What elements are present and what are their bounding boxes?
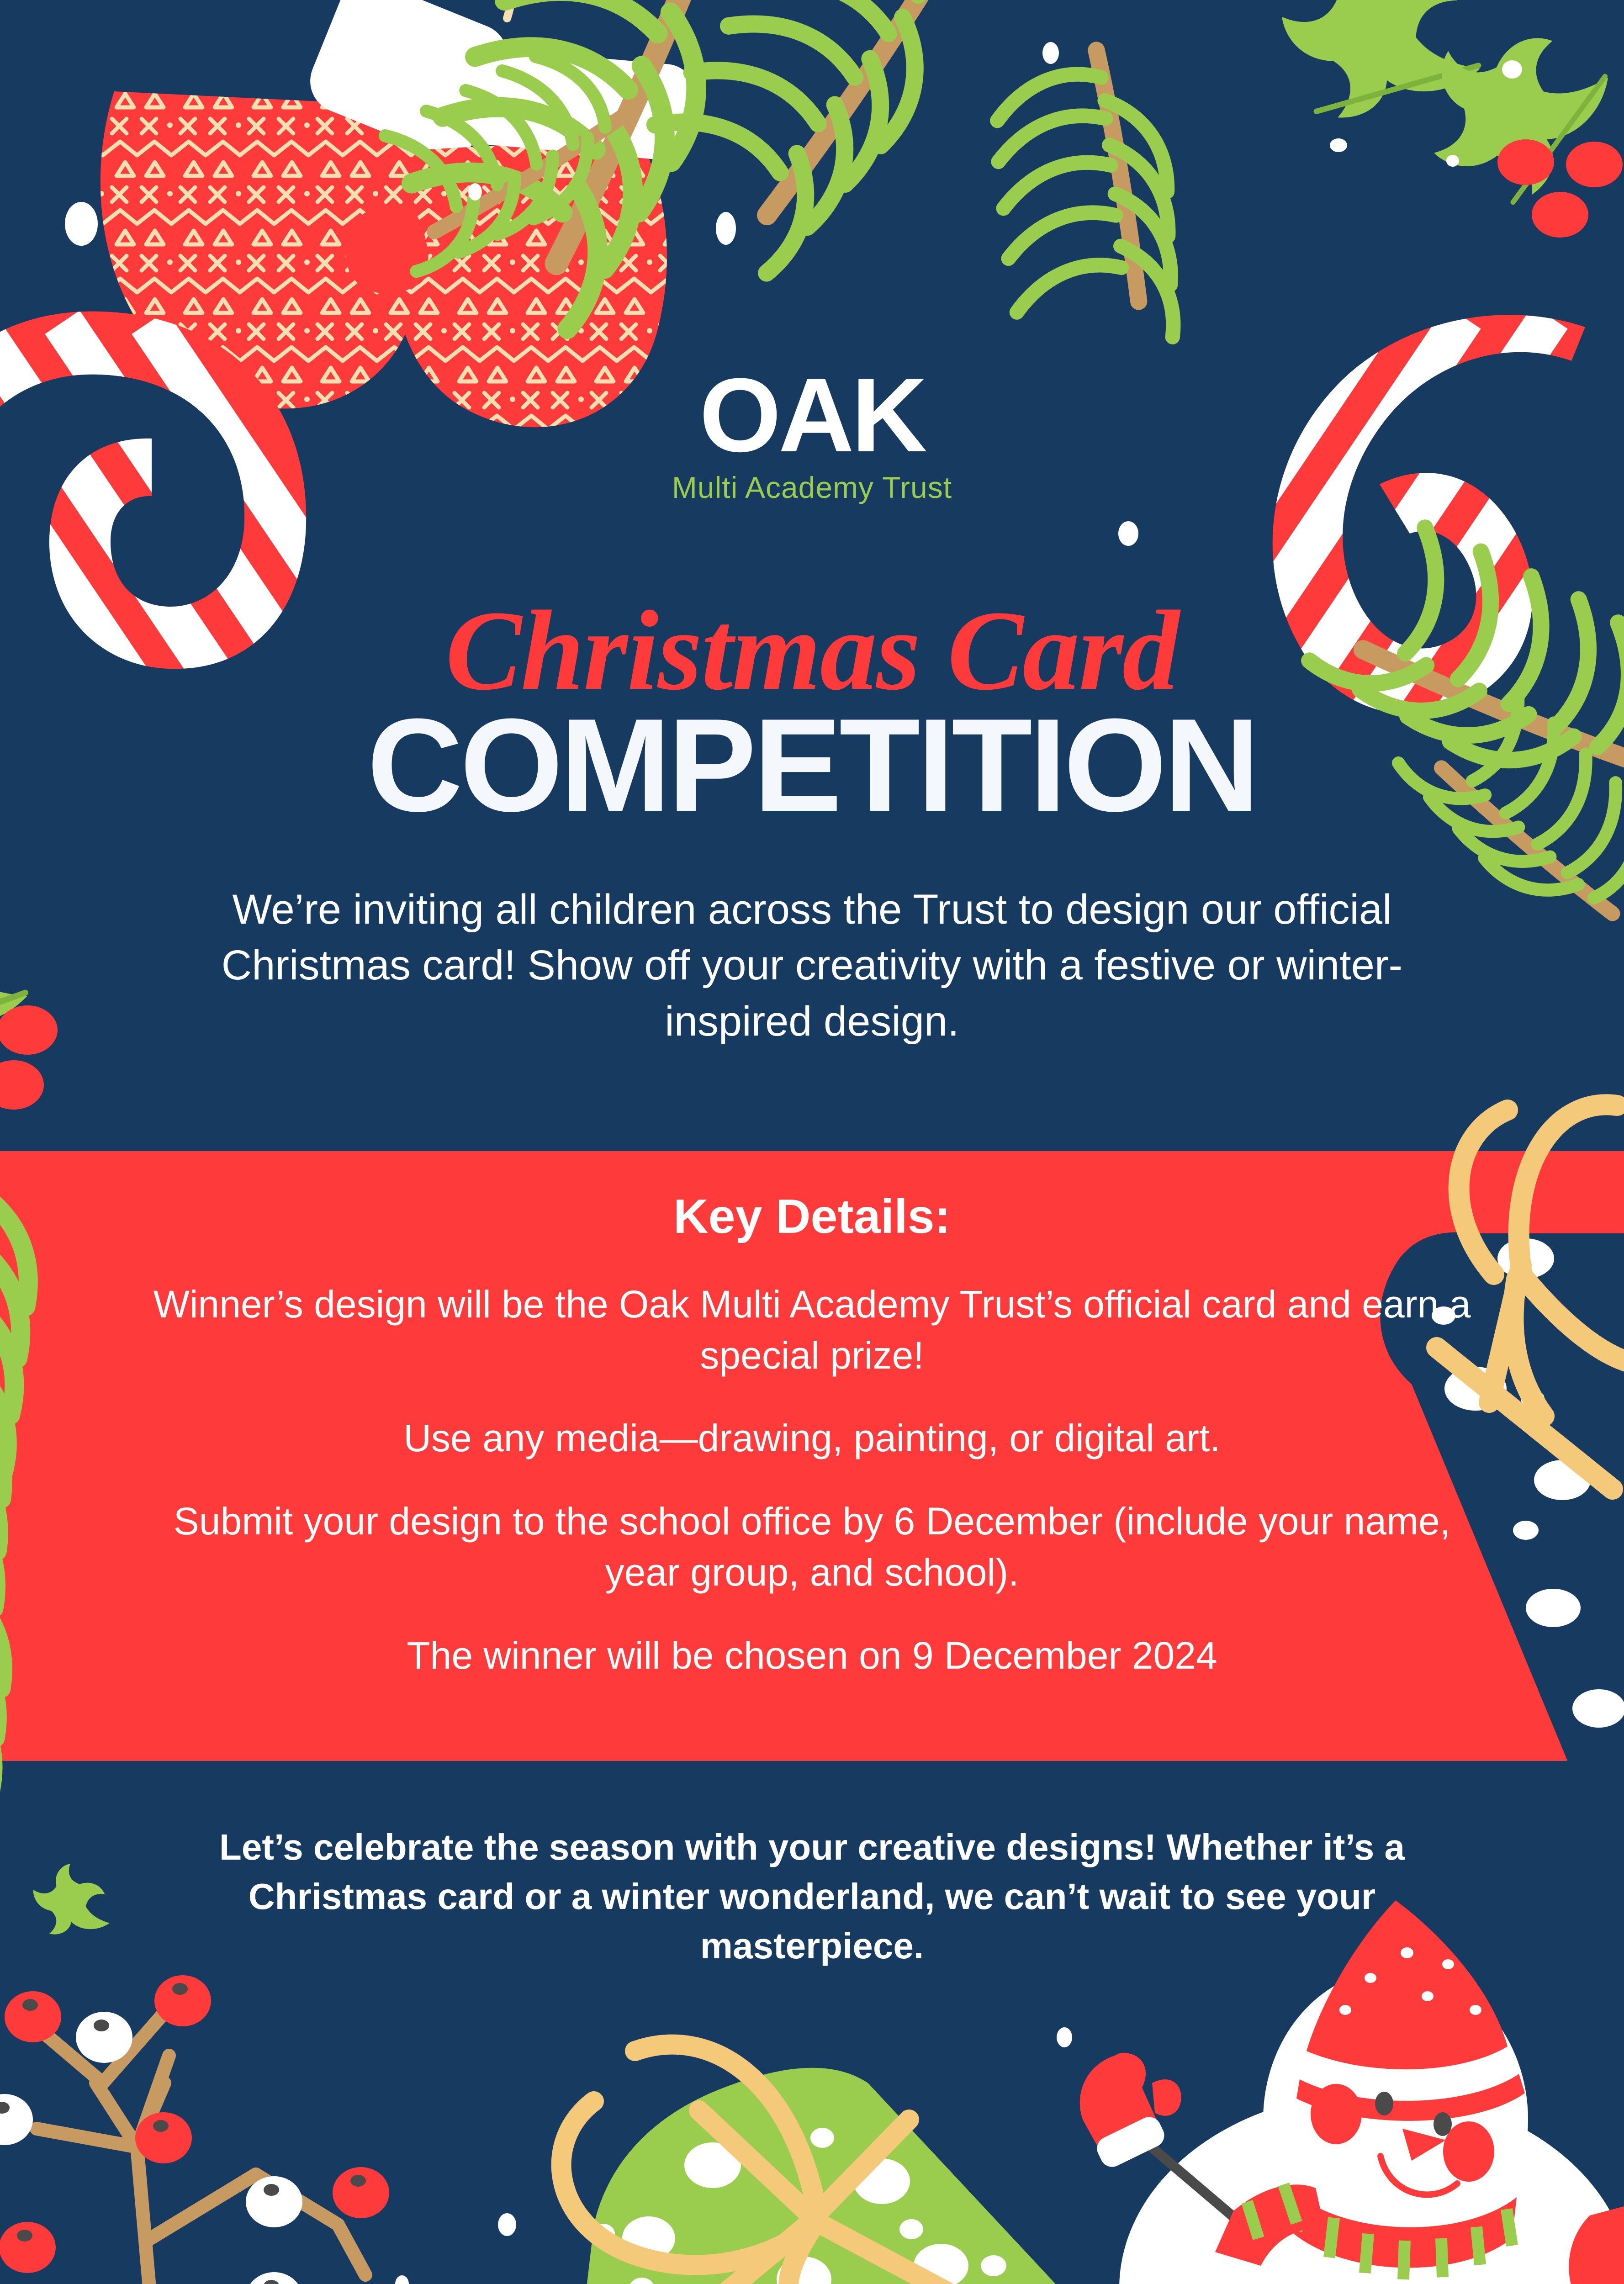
logo-wordmark: OAK [699,365,925,465]
intro-paragraph: We’re inviting all children across the T… [0,882,1624,1049]
key-detail-item: The winner will be chosen on 9 December … [137,1630,1487,1681]
trust-logo: OAK Multi Academy Trust [0,365,1624,505]
key-detail-item: Submit your design to the school office … [137,1496,1487,1598]
key-details-list: Winner’s design will be the Oak Multi Ac… [0,1279,1624,1681]
closing-message: Let’s celebrate the season with your cre… [0,1823,1624,1971]
logo-subtitle: Multi Academy Trust [672,470,952,505]
page-title: COMPETITION [0,699,1624,831]
key-detail-item: Use any media—drawing, painting, or digi… [137,1413,1487,1464]
key-details-heading: Key Details: [0,1192,1624,1241]
key-detail-item: Winner’s design will be the Oak Multi Ac… [137,1279,1487,1381]
poster-canvas: OAK Multi Academy Trust Christmas Card C… [0,0,1624,2284]
